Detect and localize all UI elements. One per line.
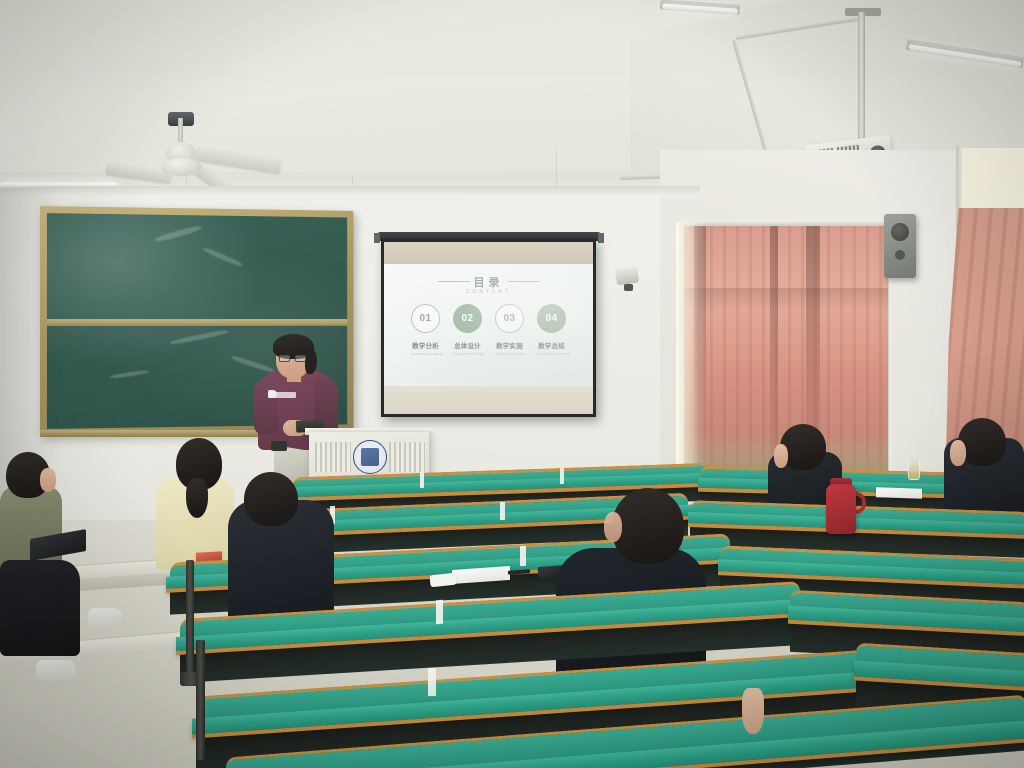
wall-sensor (615, 267, 639, 286)
presenter-sweatshirt-text (268, 392, 296, 398)
chalk-smudge (203, 247, 243, 268)
slide-label-03: 教学实施 Teaching process (495, 340, 524, 356)
podium-microphone (271, 441, 287, 451)
desk-leg (186, 560, 194, 680)
slide-label-02: 总体设计 Integrated design (453, 340, 482, 356)
slide-number-circles: 01 02 03 04 (384, 304, 593, 333)
speaker-tweeter-icon (895, 250, 905, 260)
student-left-olive-face (40, 468, 56, 492)
slide-label-cn-04: 教学总结 (537, 340, 566, 350)
blackboard-divider (47, 319, 347, 326)
presentation-slide: 目录 CONTENT 01 02 03 04 教学分析 Teaching ana… (384, 264, 593, 386)
student-cream-ponytail (186, 478, 208, 518)
chalk-smudge (154, 224, 202, 243)
red-thermos-flask (826, 484, 856, 534)
slide-label-04: 教学总结 Teaching summary (537, 340, 566, 356)
emblem-inner-mark (361, 448, 379, 466)
presenter-arm-left (254, 378, 278, 434)
slide-label-01: 教学分析 Teaching analysis (411, 340, 440, 356)
student-center-head (612, 488, 684, 564)
slide-title: 目录 (384, 274, 593, 290)
university-emblem-icon (353, 440, 387, 474)
chalk-smudge (110, 370, 149, 380)
sneaker (88, 608, 122, 626)
desk-seam (560, 468, 564, 484)
desk-seam (520, 546, 526, 566)
slide-label-en-03: Teaching process (495, 352, 524, 356)
slide-label-en-02: Integrated design (453, 352, 482, 356)
screen-lower-band (384, 386, 593, 414)
screen-bracket (374, 233, 380, 243)
student-right-far-face (950, 440, 966, 466)
podium-vent-right (389, 442, 425, 472)
ceiling-fan-body (161, 158, 202, 176)
slide-label-en-04: Teaching summary (537, 352, 566, 356)
slide-item-04: 04 (537, 304, 566, 333)
student-center-face (604, 512, 622, 542)
slide-labels: 教学分析 Teaching analysis 总体设计 Integrated d… (384, 340, 593, 356)
slide-circle-01: 01 (411, 304, 440, 333)
podium-vent-left (315, 442, 351, 472)
slide-label-cn-01: 教学分析 (411, 340, 440, 350)
desk-leg (196, 640, 205, 760)
curtain-fold (770, 226, 778, 476)
ceiling-fan-rod (178, 118, 183, 144)
chalk-smudge (231, 355, 275, 374)
handout-paper (876, 487, 922, 499)
wall-speaker (884, 214, 916, 278)
slide-item-02: 02 (453, 304, 482, 333)
slide-label-cn-02: 总体设计 (453, 340, 482, 350)
slide-item-01: 01 (411, 304, 440, 333)
wall-sensor-lens (624, 284, 633, 291)
glasses-lens-left (279, 355, 290, 362)
slide-circle-04: 04 (537, 304, 566, 333)
chalk-smudge (170, 329, 229, 346)
desk-seam (420, 472, 424, 488)
projector-mount-pole (858, 12, 865, 140)
sneaker (36, 660, 76, 680)
screen-bracket (598, 233, 604, 243)
presenter-glasses (279, 355, 307, 362)
curtain-rod (678, 220, 894, 226)
student-right-near-face (774, 444, 788, 468)
slide-circle-03: 03 (495, 304, 524, 333)
slide-circle-02: 02 (453, 304, 482, 333)
glass-tea-cup (908, 458, 920, 480)
wall-cornice (0, 186, 700, 196)
speaker-cone-icon (891, 223, 909, 241)
slide-label-en-01: Teaching analysis (411, 352, 440, 356)
student-center-leg (742, 688, 764, 734)
slide-subtitle: CONTENT (384, 289, 593, 295)
screen-blank-band (384, 242, 593, 264)
slide-label-cn-03: 教学实施 (495, 340, 524, 350)
desk-seam (428, 668, 436, 697)
glasses-lens-right (295, 355, 306, 362)
slide-title-rule-right (508, 281, 540, 282)
classroom-photo: 目录 CONTENT 01 02 03 04 教学分析 Teaching ana… (0, 0, 1024, 768)
desk-seam (436, 600, 443, 624)
student-left-olive-legs (0, 560, 80, 656)
slide-title-rule-left (438, 281, 470, 282)
student-dark-left-head (244, 472, 298, 526)
curtain-shadow-band (684, 288, 888, 310)
window-daylight (676, 222, 706, 484)
slide-item-03: 03 (495, 304, 524, 333)
desk-seam (500, 502, 505, 520)
